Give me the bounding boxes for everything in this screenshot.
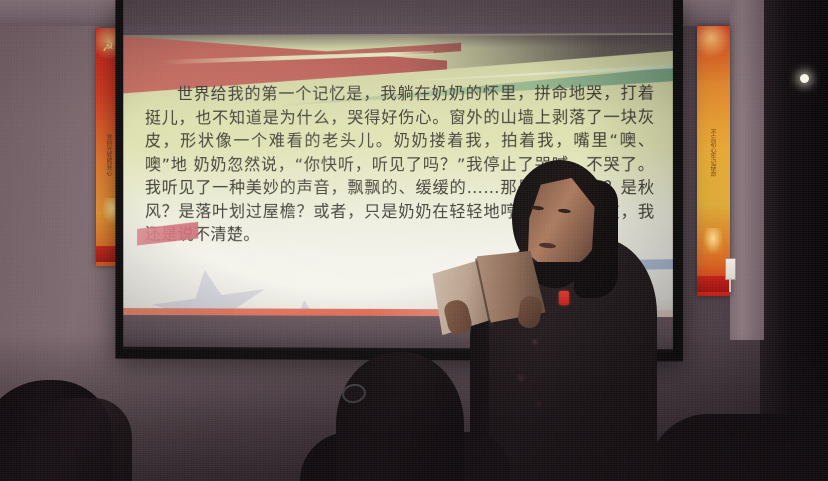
hammer-sickle-icon: ☭ — [100, 38, 116, 56]
party-badge-pin — [559, 291, 569, 305]
wall-pillar — [730, 0, 764, 340]
banner-seal — [703, 228, 723, 254]
wall-banner-right: 不忘初心牢记使命 — [697, 26, 730, 296]
floor-shadow — [0, 331, 828, 481]
banner-glow — [697, 26, 730, 58]
photo-scene: ☭ 党的光辉照我心 不忘初心牢记使命 世界给我的第一个记忆是，我躺在奶奶的怀里， — [0, 0, 828, 481]
light-switch[interactable] — [725, 258, 736, 280]
ceiling-lamp-icon — [800, 74, 809, 83]
banner-right-text: 不忘初心牢记使命 — [709, 78, 718, 228]
light-switch-cord — [729, 278, 731, 292]
